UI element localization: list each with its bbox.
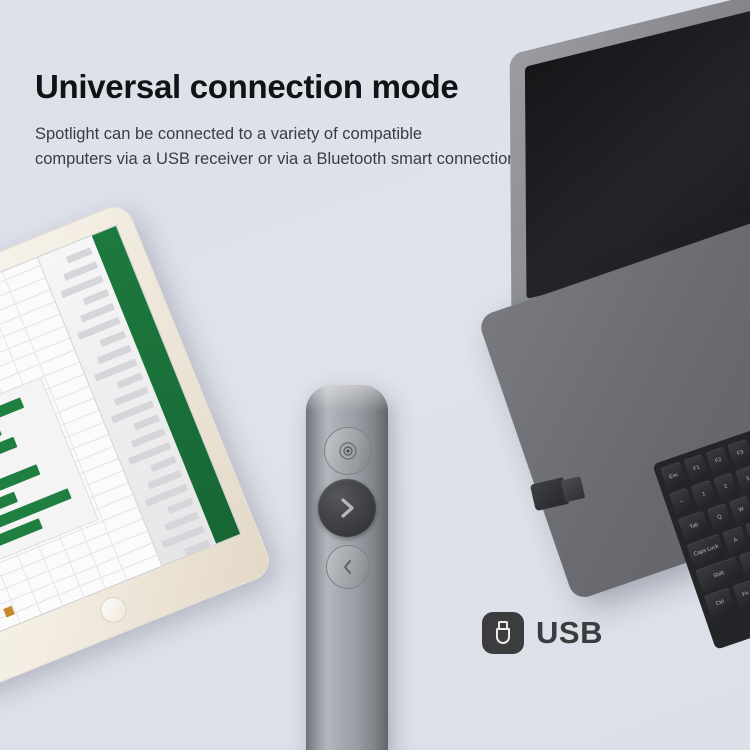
usb-badge: USB <box>482 612 603 654</box>
back-slide-button[interactable] <box>326 545 370 589</box>
usb-plug-glyph <box>491 620 515 646</box>
key-~[interactable]: ~ <box>669 488 695 516</box>
key-a[interactable]: A <box>722 526 748 554</box>
next-slide-button[interactable] <box>318 479 376 537</box>
toolbar-item[interactable] <box>150 456 177 472</box>
product-marketing-banner: Universal connection mode Spotlight can … <box>0 0 750 750</box>
usb-plug-icon <box>482 612 524 654</box>
key-esc[interactable]: Esc <box>660 461 687 490</box>
key-3[interactable]: 3 <box>735 465 750 493</box>
toolbar-item[interactable] <box>83 289 110 305</box>
key-tab[interactable]: Tab <box>678 511 711 541</box>
key-f2[interactable]: F2 <box>706 446 732 474</box>
key-w[interactable]: W <box>729 496 750 524</box>
home-button[interactable] <box>97 593 131 627</box>
tablet-body <box>0 201 275 695</box>
toolbar-item[interactable] <box>167 498 194 514</box>
tablet-device <box>0 201 275 695</box>
laptop-keyboard[interactable]: EscF1F2F3F4F5F6F7F8F9F10F11~1234567890-T… <box>652 371 750 650</box>
key-1[interactable]: 1 <box>691 480 717 508</box>
spotlight-presenter-remote <box>306 385 388 750</box>
chevron-left-icon <box>340 558 356 576</box>
key-ctrl[interactable]: Ctrl <box>704 587 736 617</box>
key-f1[interactable]: F1 <box>684 454 710 482</box>
spotlight-button[interactable] <box>324 427 372 475</box>
toolbar-item[interactable] <box>66 247 93 263</box>
remote-highlight <box>306 385 388 411</box>
dongle-connector <box>561 476 585 502</box>
grid-line <box>0 566 163 645</box>
toolbar-item[interactable] <box>184 539 211 555</box>
tablet-screen <box>0 225 242 646</box>
toolbar-item[interactable] <box>100 331 127 347</box>
key-2[interactable]: 2 <box>713 472 739 500</box>
toolbar-item[interactable] <box>116 372 143 388</box>
key-q[interactable]: Q <box>707 503 733 531</box>
grid-line <box>0 265 41 345</box>
key-f3[interactable]: F3 <box>727 439 750 467</box>
usb-badge-label: USB <box>536 615 603 651</box>
target-circle-icon <box>337 440 359 462</box>
toolbar-item[interactable] <box>133 414 160 430</box>
page-title: Universal connection mode <box>35 68 458 106</box>
spreadsheet-app <box>0 226 240 644</box>
key-fn[interactable]: Fn <box>732 580 750 608</box>
usb-receiver-dongle <box>529 471 587 514</box>
chevron-right-icon <box>336 495 358 521</box>
